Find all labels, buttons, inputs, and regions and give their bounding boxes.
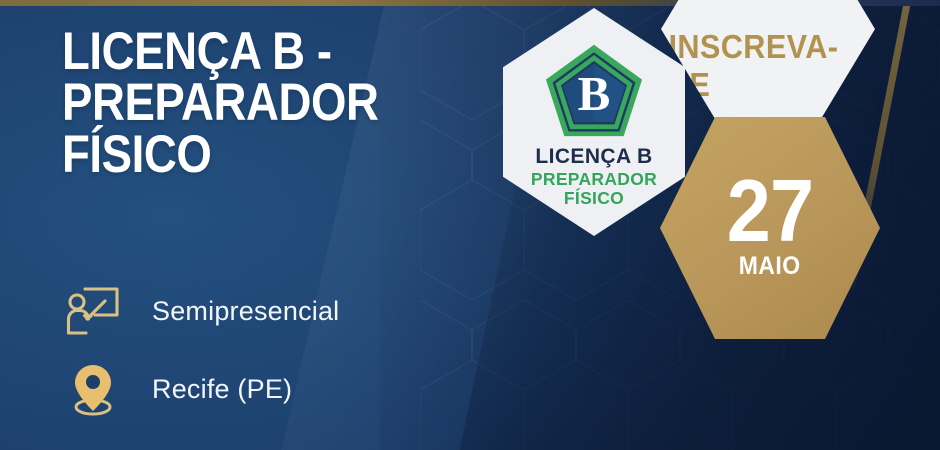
page-title: LICENÇA B - PREPARADOR FÍSICO <box>62 26 423 180</box>
list-item-label: Semipresencial <box>152 296 339 327</box>
event-details-list: Semipresencial Recife (PE) <box>62 272 492 428</box>
presenter-board-icon <box>62 280 124 342</box>
list-item-label: Recife (PE) <box>152 374 292 405</box>
list-item: Recife (PE) <box>62 350 492 428</box>
logo-subtitle: PREPARADOR FÍSICO <box>531 170 657 206</box>
event-banner: LICENÇA B - PREPARADOR FÍSICO Semipresen… <box>0 0 940 450</box>
logo-monogram: B <box>578 66 611 121</box>
logo-title: LICENÇA B <box>535 145 652 169</box>
event-date-month: MAIO <box>739 252 801 281</box>
list-item: Semipresencial <box>62 272 492 350</box>
logo-pentagon-mark: B <box>542 41 646 139</box>
map-pin-icon <box>62 358 124 420</box>
event-date-day: 27 <box>727 175 813 247</box>
logo-stack: B LICENÇA B PREPARADOR FÍSICO <box>531 37 657 206</box>
